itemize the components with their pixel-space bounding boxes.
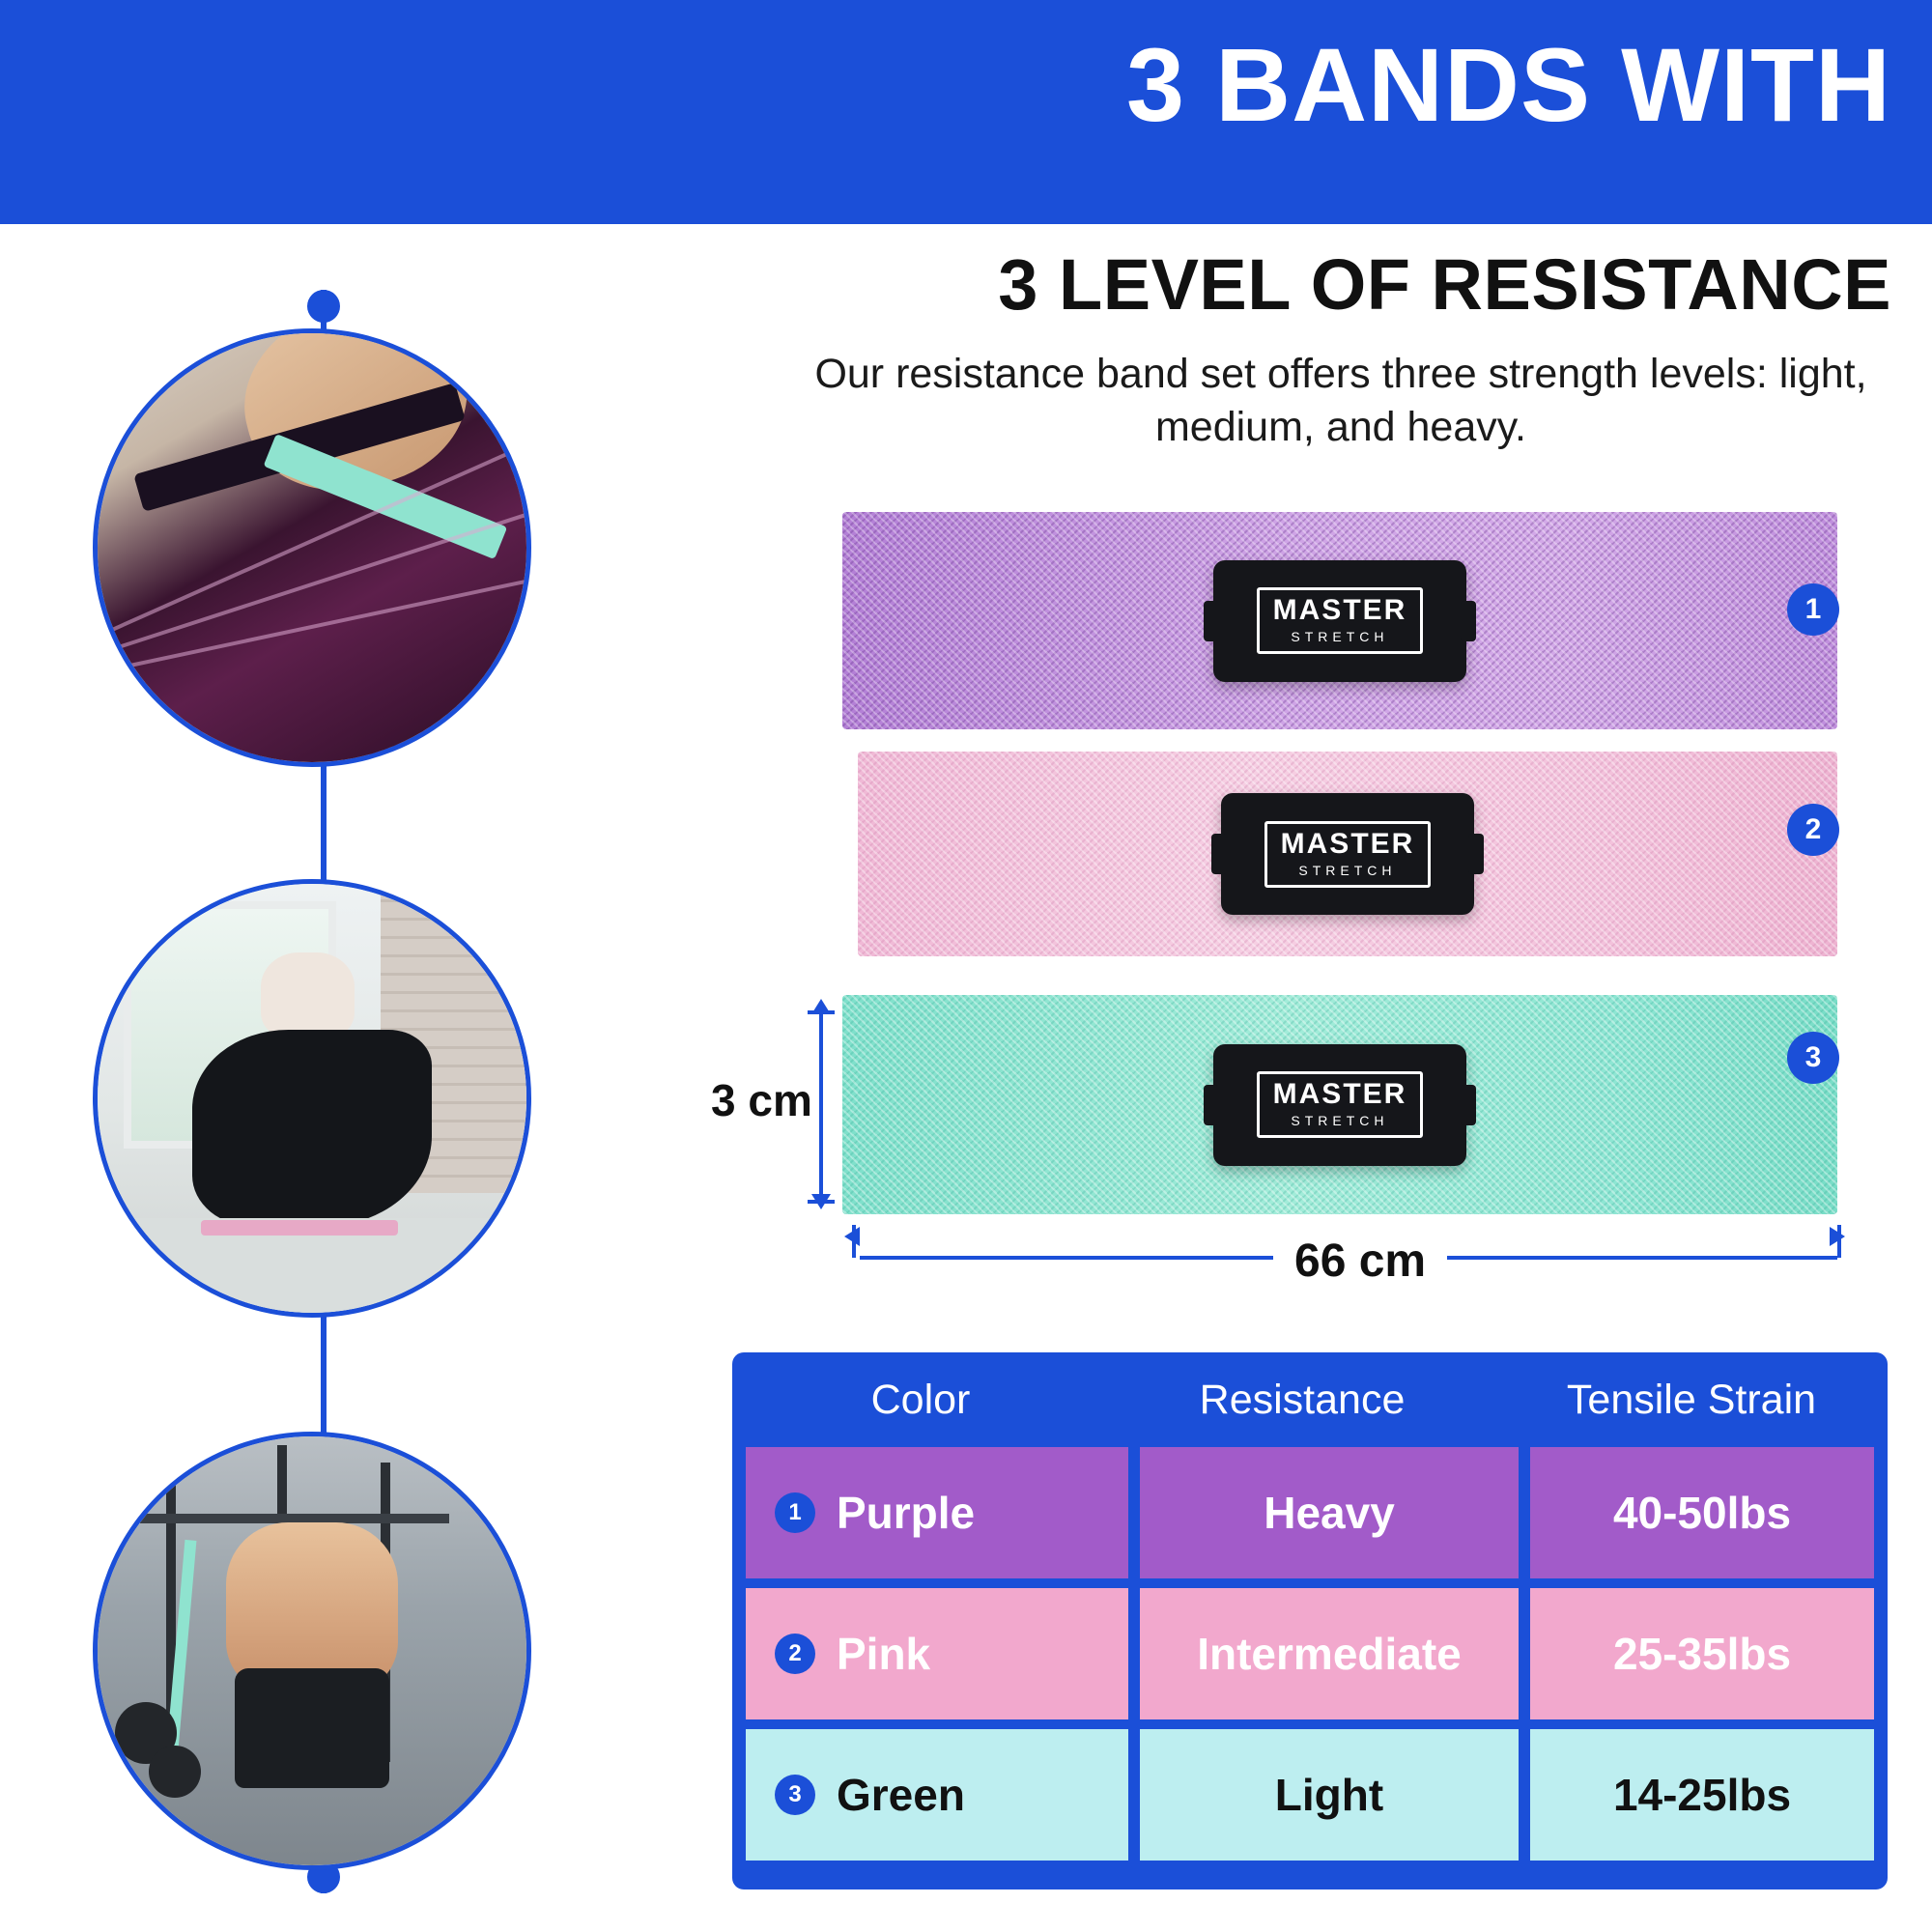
band-logo-tag: MASTER STRETCH	[1213, 1044, 1466, 1166]
table-cell-tensile: 40-50lbs	[1530, 1447, 1874, 1578]
width-label: 66 cm	[1273, 1235, 1447, 1288]
band-number-badge-2: 2	[1787, 804, 1839, 856]
table-cell-color: 3 Green	[746, 1729, 1128, 1861]
pullup-band-exercise-photo	[93, 1432, 531, 1870]
band-logo-tag: MASTER STRETCH	[1221, 793, 1474, 915]
logo-stretch-text: STRETCH	[1281, 861, 1415, 881]
band-green: MASTER STRETCH	[842, 995, 1837, 1214]
row-number-badge: 1	[775, 1492, 815, 1533]
table-header-resistance: Resistance	[1109, 1352, 1495, 1447]
table-cell-resistance: Light	[1140, 1729, 1519, 1861]
table-header-color: Color	[732, 1352, 1109, 1447]
height-arrow-down-icon	[811, 1194, 831, 1209]
table-cell-color: 2 Pink	[746, 1588, 1128, 1719]
height-label: 3 cm	[711, 1074, 812, 1126]
logo-stretch-text: STRETCH	[1273, 627, 1407, 647]
table-header-row: Color Resistance Tensile Strain	[732, 1352, 1888, 1447]
band-pink: MASTER STRETCH	[858, 752, 1837, 956]
logo-master-text: MASTER	[1273, 1080, 1407, 1109]
row-number-badge: 2	[775, 1634, 815, 1674]
table-cell-resistance: Heavy	[1140, 1447, 1519, 1578]
width-arrow-left-icon	[844, 1227, 860, 1246]
lunge-band-exercise-photo	[93, 879, 531, 1318]
hip-band-exercise-photo	[93, 328, 531, 767]
connector-dot-top	[307, 290, 340, 323]
specs-table: Color Resistance Tensile Strain 1 Purple…	[732, 1352, 1888, 1889]
table-cell-color-label: Purple	[837, 1487, 975, 1539]
row-number-badge: 3	[775, 1775, 815, 1815]
band-number-badge-3: 3	[1787, 1032, 1839, 1084]
band-purple: MASTER STRETCH	[842, 512, 1837, 729]
logo-master-text: MASTER	[1273, 596, 1407, 625]
top-banner: 3 BANDS WITH	[0, 0, 1932, 224]
photo-column	[93, 290, 547, 1893]
table-row: 3 Green Light 14-25lbs	[746, 1729, 1874, 1861]
band-logo-tag: MASTER STRETCH	[1213, 560, 1466, 682]
height-dimension-line	[819, 1007, 823, 1204]
page-description: Our resistance band set offers three str…	[790, 348, 1891, 454]
table-cell-color-label: Pink	[837, 1628, 930, 1680]
height-cap-top	[808, 1010, 835, 1014]
band-number-badge-1: 1	[1787, 583, 1839, 636]
table-header-tensile: Tensile Strain	[1495, 1352, 1888, 1447]
table-row: 2 Pink Intermediate 25-35lbs	[746, 1588, 1874, 1719]
logo-stretch-text: STRETCH	[1273, 1111, 1407, 1131]
infographic-page: 3 BANDS WITH 3 LEVEL OF RESISTANCE Our r…	[0, 0, 1932, 1932]
width-arrow-right-icon	[1830, 1227, 1845, 1246]
banner-title: 3 BANDS WITH	[1126, 33, 1891, 137]
table-row: 1 Purple Heavy 40-50lbs	[746, 1447, 1874, 1578]
table-cell-tensile: 14-25lbs	[1530, 1729, 1874, 1861]
page-subtitle: 3 LEVEL OF RESISTANCE	[998, 249, 1891, 321]
table-cell-color-label: Green	[837, 1769, 965, 1821]
table-cell-color: 1 Purple	[746, 1447, 1128, 1578]
logo-master-text: MASTER	[1281, 830, 1415, 859]
table-cell-tensile: 25-35lbs	[1530, 1588, 1874, 1719]
table-cell-resistance: Intermediate	[1140, 1588, 1519, 1719]
